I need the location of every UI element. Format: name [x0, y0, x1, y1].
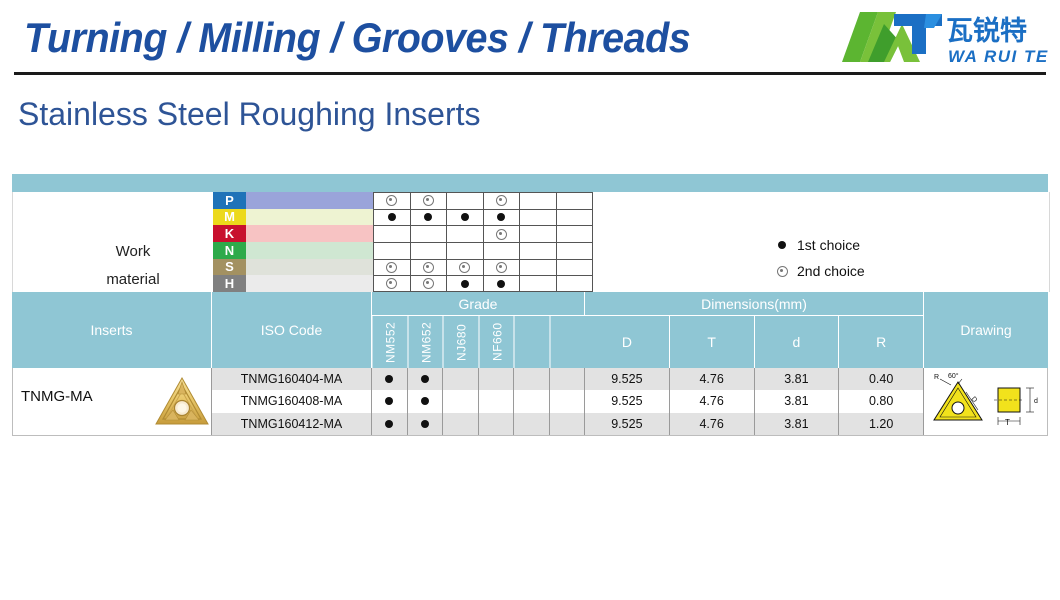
- cell-dimension-D: 9.525: [585, 368, 670, 390]
- work-material-cells: [373, 275, 593, 292]
- header-grade-NF660: NF660: [479, 316, 515, 368]
- drawing-cell: R 60° D d T: [924, 368, 1048, 435]
- cell-iso-code: TNMG160412-MA: [212, 413, 372, 435]
- work-material-cell: [557, 243, 594, 259]
- work-material-cell: [373, 226, 411, 242]
- cell-grade-mark: [550, 413, 586, 435]
- legend-label: 2nd choice: [797, 263, 865, 279]
- mark-first-choice: [421, 420, 429, 428]
- header-iso-code: ISO Code: [212, 292, 372, 368]
- work-material-cell: [484, 243, 521, 259]
- header-title: Turning / Milling / Grooves / Threads: [24, 14, 690, 62]
- header-drawing: Drawing: [924, 292, 1048, 368]
- mark-second-choice: [459, 262, 470, 273]
- work-material-cells: [373, 242, 593, 259]
- work-material-row: P: [213, 192, 586, 209]
- work-material-cell: [373, 276, 411, 291]
- work-material-key-N: N: [213, 242, 246, 259]
- header-dimension-D: D: [585, 316, 670, 368]
- cell-dimension-T: 4.76: [670, 390, 755, 412]
- work-material-band: [246, 275, 373, 292]
- cell-dimension-D: 9.525: [585, 413, 670, 435]
- header-dimension-R: R: [839, 316, 924, 368]
- work-material-cell: [557, 276, 594, 291]
- work-material-cell: [520, 210, 557, 226]
- work-material-cell: [411, 243, 448, 259]
- work-material-label-line2: material: [53, 266, 213, 294]
- mark-first-choice: [385, 397, 393, 405]
- work-material-cell: [557, 226, 594, 242]
- dimension-drawing-svg: R 60° D d T: [924, 368, 1048, 435]
- work-material-cell: [411, 226, 448, 242]
- mark-first-choice: [497, 213, 505, 221]
- mark-second-choice: [496, 262, 507, 273]
- work-material-cell: [484, 226, 521, 242]
- work-material-cell: [447, 243, 484, 259]
- header-grade-empty-5: [550, 316, 586, 368]
- work-material-block: Work material PMKNSH 1st choice2nd choic…: [12, 192, 1050, 292]
- header-dimension-d: d: [755, 316, 840, 368]
- work-material-label-line1: Work: [53, 238, 213, 266]
- mark-second-choice: [386, 195, 397, 206]
- mark-first-choice: [388, 213, 396, 221]
- work-material-cell: [484, 260, 521, 276]
- mark-first-choice: [421, 397, 429, 405]
- work-material-cell: [484, 193, 521, 209]
- mark-first-choice: [461, 280, 469, 288]
- page-title: Stainless Steel Roughing Inserts: [18, 96, 480, 133]
- header-divider: [14, 72, 1046, 75]
- header-grade-group: Grade: [372, 292, 585, 316]
- work-material-cell: [484, 276, 521, 291]
- header-grade-NJ680: NJ680: [443, 316, 479, 368]
- header-grade-empty-4: [514, 316, 550, 368]
- work-material-key-K: K: [213, 225, 246, 242]
- work-material-cell: [484, 210, 521, 226]
- work-material-cells: [373, 192, 593, 209]
- mark-first-choice: [461, 213, 469, 221]
- work-material-cell: [373, 243, 411, 259]
- cell-dimension-T: 4.76: [670, 413, 755, 435]
- work-material-key-H: H: [213, 275, 246, 292]
- work-material-cell: [520, 243, 557, 259]
- work-material-cell: [447, 226, 484, 242]
- work-material-cell: [557, 193, 594, 209]
- work-material-cells: [373, 225, 593, 242]
- work-material-band: [246, 259, 373, 276]
- cell-grade-mark: [443, 413, 479, 435]
- legend-mark: [773, 266, 791, 277]
- cell-dimension-R: 0.40: [839, 368, 924, 390]
- mark-second-choice: [496, 195, 507, 206]
- mark-first-choice: [421, 375, 429, 383]
- work-material-band: [246, 209, 373, 226]
- work-material-cell: [447, 260, 484, 276]
- work-material-band: [246, 242, 373, 259]
- work-material-cell: [557, 210, 594, 226]
- work-material-key-M: M: [213, 209, 246, 226]
- cell-grade-mark: [408, 413, 444, 435]
- work-material-cell: [520, 276, 557, 291]
- cell-dimension-T: 4.76: [670, 368, 755, 390]
- insert-photo: [153, 372, 211, 432]
- work-material-row: K: [213, 225, 586, 242]
- mark-first-choice: [424, 213, 432, 221]
- cell-grade-mark: [443, 368, 479, 390]
- legend-item: 2nd choice: [773, 258, 865, 284]
- cell-grade-mark: [372, 368, 408, 390]
- work-material-label: Work material: [53, 238, 213, 294]
- cell-grade-mark: [514, 390, 550, 412]
- mark-first-choice: [497, 280, 505, 288]
- cell-grade-mark: [479, 413, 515, 435]
- cell-dimension-R: 1.20: [839, 413, 924, 435]
- svg-text:R: R: [934, 374, 939, 381]
- work-material-cell: [447, 193, 484, 209]
- cell-grade-mark: [479, 368, 515, 390]
- svg-text:d: d: [1034, 398, 1038, 405]
- work-material-cell: [520, 193, 557, 209]
- cell-grade-mark: [408, 368, 444, 390]
- work-material-cell: [411, 276, 448, 291]
- mark-second-choice: [386, 278, 397, 289]
- work-material-matrix: PMKNSH: [213, 192, 586, 292]
- mark-first-choice: [385, 375, 393, 383]
- table-header: InsertsISO CodeGradeNM552NM652NJ680NF660…: [12, 292, 1048, 368]
- logo-chinese: 瓦锐特: [946, 16, 1027, 47]
- cell-iso-code: TNMG160404-MA: [212, 368, 372, 390]
- mark-second-choice: [423, 262, 434, 273]
- svg-text:T: T: [1005, 418, 1010, 427]
- work-material-row: N: [213, 242, 586, 259]
- work-material-cell: [411, 260, 448, 276]
- mark-first-choice: [385, 420, 393, 428]
- logo-svg: 瓦锐特 WA RUI TE: [838, 8, 1050, 70]
- cell-dimension-d: 3.81: [755, 413, 840, 435]
- svg-text:60°: 60°: [948, 372, 959, 380]
- work-material-cell: [447, 276, 484, 291]
- work-material-key-P: P: [213, 192, 246, 209]
- work-material-row: M: [213, 209, 586, 226]
- work-material-key-S: S: [213, 259, 246, 276]
- work-material-cell: [411, 193, 448, 209]
- work-material-cell: [520, 260, 557, 276]
- cell-grade-mark: [514, 368, 550, 390]
- cell-dimension-R: 0.80: [839, 390, 924, 412]
- header-grade-NM552: NM552: [372, 316, 408, 368]
- work-material-cell: [557, 260, 594, 276]
- header-dimension-T: T: [670, 316, 755, 368]
- cell-grade-mark: [443, 390, 479, 412]
- cell-dimension-d: 3.81: [755, 368, 840, 390]
- cell-iso-code: TNMG160408-MA: [212, 390, 372, 412]
- work-material-band: [246, 192, 373, 209]
- mark-second-choice: [386, 262, 397, 273]
- header-dimensions-group: Dimensions(mm): [585, 292, 924, 316]
- mark-second-choice: [423, 195, 434, 206]
- cell-dimension-d: 3.81: [755, 390, 840, 412]
- mark-second-choice: [423, 278, 434, 289]
- cell-grade-mark: [372, 413, 408, 435]
- legend-item: 1st choice: [773, 232, 865, 258]
- work-material-cell: [373, 260, 411, 276]
- cell-grade-mark: [514, 413, 550, 435]
- legend-mark: [773, 241, 791, 249]
- insert-spec-table: Work material PMKNSH 1st choice2nd choic…: [12, 174, 1048, 456]
- work-material-band: [246, 225, 373, 242]
- logo-latin: WA RUI TE: [948, 47, 1049, 66]
- insert-photo-svg: [153, 372, 211, 432]
- work-material-cell: [373, 193, 411, 209]
- cell-grade-mark: [479, 390, 515, 412]
- page-header: Turning / Milling / Grooves / Threads 瓦锐…: [0, 0, 1060, 80]
- work-material-cell: [373, 210, 411, 226]
- mark-second-choice: [496, 229, 507, 240]
- mark-first-choice: [778, 241, 786, 249]
- work-material-cells: [373, 259, 593, 276]
- cell-grade-mark: [550, 368, 586, 390]
- cell-grade-mark: [372, 390, 408, 412]
- work-material-cells: [373, 209, 593, 226]
- cell-dimension-D: 9.525: [585, 390, 670, 412]
- work-material-row: S: [213, 259, 586, 276]
- work-material-cell: [447, 210, 484, 226]
- table-top-band: [12, 174, 1048, 192]
- legend-label: 1st choice: [797, 237, 860, 253]
- work-material-cell: [520, 226, 557, 242]
- cell-grade-mark: [550, 390, 586, 412]
- cell-grade-mark: [408, 390, 444, 412]
- header-inserts: Inserts: [12, 292, 212, 368]
- insert-family-name: TNMG-MA: [21, 388, 93, 405]
- header-grade-NM652: NM652: [408, 316, 444, 368]
- insert-family-cell: TNMG-MA: [12, 368, 212, 435]
- work-material-cell: [411, 210, 448, 226]
- work-material-row: H: [213, 275, 586, 292]
- wa-rui-te-logo: 瓦锐特 WA RUI TE: [838, 8, 1050, 70]
- mark-second-choice: [777, 266, 788, 277]
